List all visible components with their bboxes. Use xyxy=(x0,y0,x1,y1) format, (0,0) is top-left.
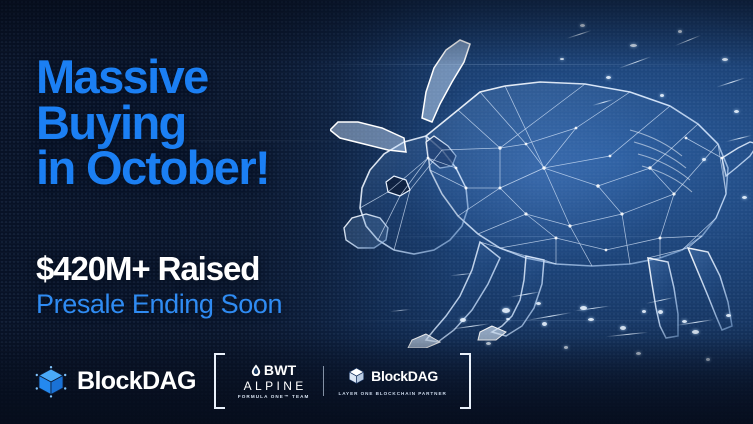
blockdag-logo[interactable]: BlockDAG xyxy=(34,364,196,398)
promo-banner: Massive Buying in October! $420M+ Raised… xyxy=(0,0,753,424)
bwt-water-drop-icon xyxy=(251,364,261,376)
logo-divider xyxy=(323,366,324,396)
headline-line-2: Buying xyxy=(36,100,386,146)
blockchain-partner-caption: LAYER ONE BLOCKCHAIN PARTNER xyxy=(338,391,446,396)
bracket-left xyxy=(214,353,225,409)
headline-line-1: Massive xyxy=(36,54,386,100)
page-title: Massive Buying in October! xyxy=(36,54,386,191)
bwt-alpine-logo[interactable]: BWT ALPINE FORMULA ONE™ TEAM xyxy=(238,363,310,400)
blockdag-cube-icon xyxy=(34,364,68,398)
headline-line-3: in October! xyxy=(36,145,386,191)
alpine-text: ALPINE xyxy=(238,380,310,392)
presale-status-text: Presale Ending Soon xyxy=(36,289,282,320)
partner-logos: BWT ALPINE FORMULA ONE™ TEAM xyxy=(214,353,471,409)
formula-one-team-text: FORMULA ONE™ TEAM xyxy=(238,395,310,400)
raised-amount-text: $420M+ Raised xyxy=(36,250,259,288)
blockdag-partner-logo[interactable]: BlockDAG LAYER ONE BLOCKCHAIN PARTNER xyxy=(338,366,446,396)
blockdag-cube-white-icon xyxy=(347,366,366,385)
blockdag-partner-wordmark: BlockDAG xyxy=(371,369,438,383)
logo-bar: BlockDAG BWT ALPINE FORMULA ONE™ TEAM xyxy=(0,338,753,424)
bracket-right xyxy=(460,353,471,409)
bwt-text: BWT xyxy=(264,363,296,377)
blockdag-wordmark: BlockDAG xyxy=(77,369,196,394)
